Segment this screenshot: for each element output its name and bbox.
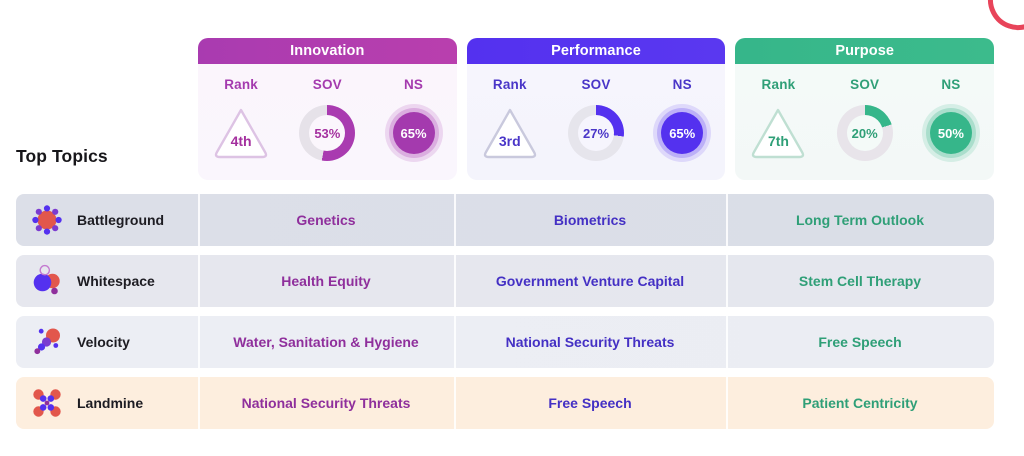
row-header-landmine: Landmine xyxy=(16,377,198,429)
rank-triangle-performance: 3rd xyxy=(479,104,541,162)
metric-sov-purpose: SOV 20% xyxy=(822,64,908,180)
ns-value-performance: 65% xyxy=(661,112,703,154)
cell-innovation[interactable]: Health Equity xyxy=(198,255,454,307)
rank-triangle-innovation: 4th xyxy=(210,104,272,162)
ns-value-innovation: 65% xyxy=(393,112,435,154)
metric-label-rank: Rank xyxy=(762,77,796,92)
rank-value-performance: 3rd xyxy=(479,133,541,149)
battleground-icon xyxy=(30,203,64,237)
ns-value-purpose: 50% xyxy=(930,112,972,154)
row-label: Whitespace xyxy=(77,273,155,289)
rank-value-purpose: 7th xyxy=(747,133,809,149)
card-title-purpose: Purpose xyxy=(735,38,994,64)
rank-value-innovation: 4th xyxy=(210,133,272,149)
sov-value-innovation: 53% xyxy=(314,126,340,141)
ns-circle-innovation: 65% xyxy=(385,104,443,162)
cell-performance[interactable]: Free Speech xyxy=(454,377,726,429)
sov-donut-performance: 27% xyxy=(568,105,624,161)
metric-vis-sov: 20% xyxy=(837,102,893,164)
dashboard-root: Innovation Rank 4th SOV xyxy=(0,0,1024,456)
metric-vis-rank: 4th xyxy=(210,102,272,164)
top-topics-table: Battleground Genetics Biometrics Long Te… xyxy=(16,194,994,438)
row-header-whitespace: Whitespace xyxy=(16,255,198,307)
metric-vis-ns: 65% xyxy=(653,102,711,164)
card-body-performance: Rank 3rd SOV xyxy=(467,64,726,180)
cell-performance[interactable]: Biometrics xyxy=(454,194,726,246)
metric-vis-ns: 50% xyxy=(922,102,980,164)
metric-label-sov: SOV xyxy=(313,77,342,92)
table-row[interactable]: Battleground Genetics Biometrics Long Te… xyxy=(16,194,994,246)
cell-purpose[interactable]: Long Term Outlook xyxy=(726,194,994,246)
metric-ns-purpose: NS 50% xyxy=(908,64,994,180)
metric-label-ns: NS xyxy=(673,77,692,92)
cell-performance[interactable]: National Security Threats xyxy=(454,316,726,368)
metric-vis-sov: 27% xyxy=(568,102,624,164)
sov-value-purpose: 20% xyxy=(852,126,878,141)
cell-purpose[interactable]: Free Speech xyxy=(726,316,994,368)
metric-label-sov: SOV xyxy=(850,77,879,92)
metric-label-sov: SOV xyxy=(581,77,610,92)
velocity-icon xyxy=(30,325,64,359)
metric-label-ns: NS xyxy=(404,77,423,92)
table-row[interactable]: Landmine National Security Threats Free … xyxy=(16,377,994,429)
ns-circle-performance: 65% xyxy=(653,104,711,162)
metric-rank-performance: Rank 3rd xyxy=(467,64,553,180)
cell-purpose[interactable]: Stem Cell Therapy xyxy=(726,255,994,307)
row-label: Landmine xyxy=(77,395,143,411)
metric-ns-innovation: NS 65% xyxy=(370,64,456,180)
metric-label-rank: Rank xyxy=(493,77,527,92)
cell-innovation[interactable]: National Security Threats xyxy=(198,377,454,429)
metric-ns-performance: NS 65% xyxy=(639,64,725,180)
rank-triangle-purpose: 7th xyxy=(747,104,809,162)
metric-sov-performance: SOV 27% xyxy=(553,64,639,180)
metric-vis-rank: 7th xyxy=(747,102,809,164)
metric-vis-rank: 3rd xyxy=(479,102,541,164)
page-title: Top Topics xyxy=(16,146,108,167)
table-row[interactable]: Velocity Water, Sanitation & Hygiene Nat… xyxy=(16,316,994,368)
sov-donut-purpose: 20% xyxy=(837,105,893,161)
row-label: Battleground xyxy=(77,212,164,228)
cell-performance[interactable]: Government Venture Capital xyxy=(454,255,726,307)
sov-donut-innovation: 53% xyxy=(299,105,355,161)
metric-sov-innovation: SOV 53% xyxy=(284,64,370,180)
row-header-velocity: Velocity xyxy=(16,316,198,368)
landmine-icon xyxy=(30,386,64,420)
metric-card-purpose[interactable]: Purpose Rank 7th SOV xyxy=(735,38,994,180)
metric-label-rank: Rank xyxy=(224,77,258,92)
cell-innovation[interactable]: Genetics xyxy=(198,194,454,246)
metric-rank-purpose: Rank 7th xyxy=(735,64,821,180)
card-title-innovation: Innovation xyxy=(198,38,457,64)
metric-card-performance[interactable]: Performance Rank 3rd SOV xyxy=(467,38,726,180)
card-title-performance: Performance xyxy=(467,38,726,64)
ns-circle-purpose: 50% xyxy=(922,104,980,162)
metric-cards-container: Innovation Rank 4th SOV xyxy=(198,38,994,180)
table-row[interactable]: Whitespace Health Equity Government Vent… xyxy=(16,255,994,307)
metric-vis-sov: 53% xyxy=(299,102,355,164)
metric-label-ns: NS xyxy=(941,77,960,92)
corner-arc-decoration xyxy=(980,0,1024,38)
cell-innovation[interactable]: Water, Sanitation & Hygiene xyxy=(198,316,454,368)
sov-value-performance: 27% xyxy=(583,126,609,141)
row-header-battleground: Battleground xyxy=(16,194,198,246)
card-body-purpose: Rank 7th SOV xyxy=(735,64,994,180)
metric-vis-ns: 65% xyxy=(385,102,443,164)
row-label: Velocity xyxy=(77,334,130,350)
whitespace-icon xyxy=(30,264,64,298)
cell-purpose[interactable]: Patient Centricity xyxy=(726,377,994,429)
metric-rank-innovation: Rank 4th xyxy=(198,64,284,180)
metric-card-innovation[interactable]: Innovation Rank 4th SOV xyxy=(198,38,457,180)
card-body-innovation: Rank 4th SOV xyxy=(198,64,457,180)
